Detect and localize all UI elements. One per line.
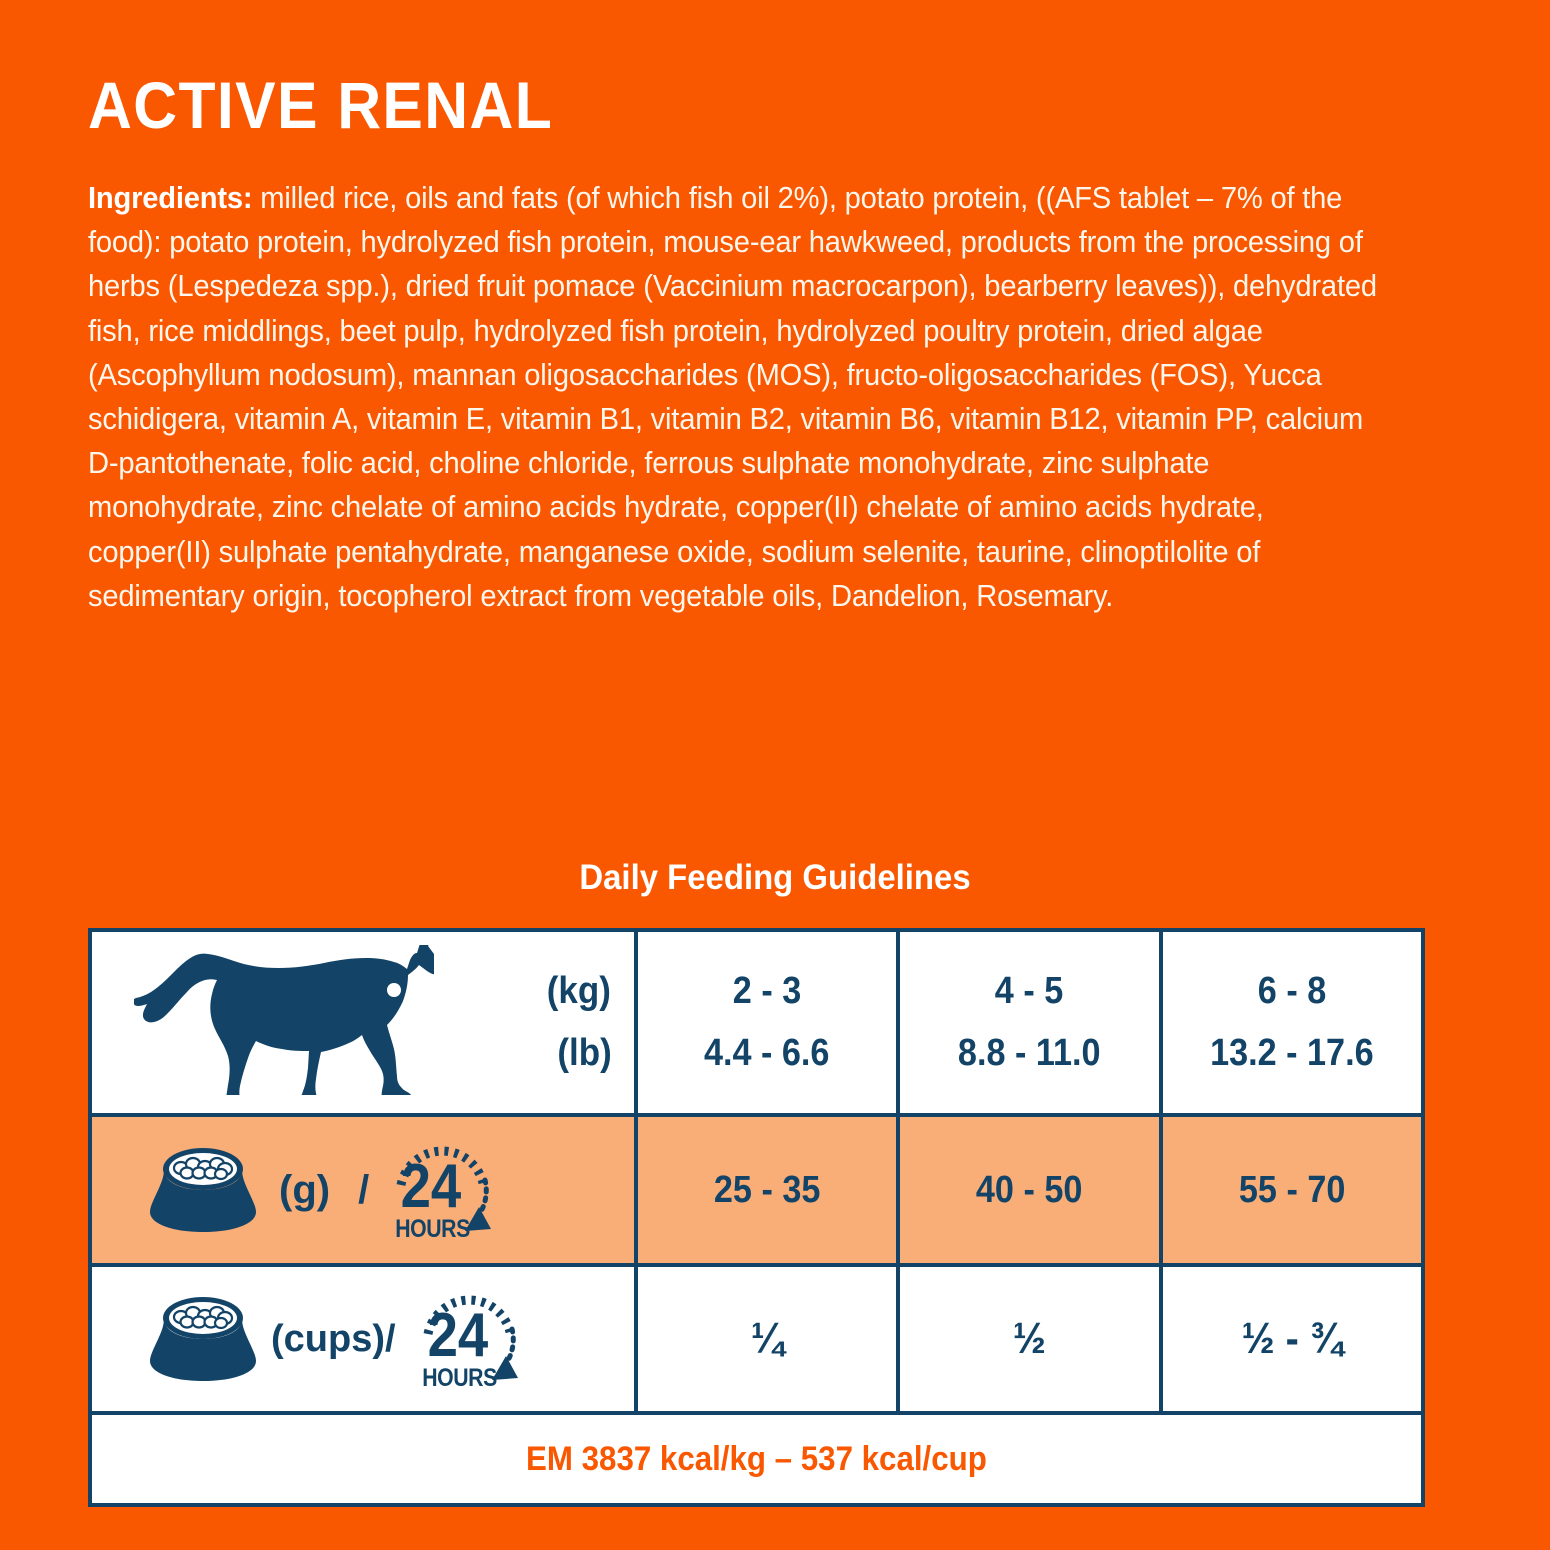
pet-food-label-page: ACTIVE RENAL Ingredients: milled rice, o… [0, 0, 1550, 1550]
cups-col-2: ½ [900, 1267, 1162, 1411]
weight-lb-3: 13.2 - 17.6 [1210, 1023, 1374, 1085]
table-row-cups: (cups)/ 24 HOURS ¼ ½ [92, 1267, 1421, 1415]
unit-grams: (g) [279, 1168, 330, 1213]
feeding-guidelines-table: (kg) (lb) 2 - 3 4.4 - 6.6 4 - 5 8.8 - 11… [88, 928, 1425, 1507]
cups-value-2: ½ [1013, 1314, 1046, 1364]
grams-col-3: 55 - 70 [1163, 1117, 1421, 1263]
svg-text:HOURS: HOURS [395, 1214, 470, 1242]
cups-col-3: ½ - ¾ [1163, 1267, 1421, 1411]
cups-value-3: ½ - ¾ [1241, 1314, 1342, 1364]
svg-text:HOURS: HOURS [422, 1363, 497, 1391]
grams-row-label-cell: (g) / 24 HOURS [92, 1117, 638, 1263]
svg-text:24: 24 [427, 1300, 488, 1369]
grams-col-1: 25 - 35 [638, 1117, 900, 1263]
food-bowl-icon [147, 1291, 259, 1388]
weight-lb-1: 4.4 - 6.6 [704, 1023, 829, 1085]
table-row-weight: (kg) (lb) 2 - 3 4.4 - 6.6 4 - 5 8.8 - 11… [92, 932, 1421, 1117]
cat-icon [134, 945, 434, 1100]
food-bowl-icon [147, 1142, 259, 1239]
cups-row-label-cell: (cups)/ 24 HOURS [92, 1267, 638, 1411]
weight-col-3: 6 - 8 13.2 - 17.6 [1163, 932, 1421, 1113]
24-hours-icon: 24 HOURS [379, 1125, 497, 1256]
svg-text:24: 24 [401, 1151, 462, 1220]
grams-value-2: 40 - 50 [976, 1169, 1082, 1212]
unit-kg: (kg) [547, 961, 611, 1023]
ingredients-label: Ingredients: [88, 181, 252, 215]
weight-col-2: 4 - 5 8.8 - 11.0 [900, 932, 1162, 1113]
cups-value-1: ¼ [751, 1314, 784, 1364]
grams-value-3: 55 - 70 [1239, 1169, 1345, 1212]
weight-kg-3: 6 - 8 [1258, 961, 1326, 1023]
ingredients-text: milled rice, oils and fats (of which fis… [88, 181, 1377, 613]
unit-lb: (lb) [557, 1023, 611, 1085]
table-row-energy: EM 3837 kcal/kg – 537 kcal/cup [92, 1415, 1421, 1503]
weight-units-column: (kg) (lb) [434, 932, 634, 1113]
grams-col-2: 40 - 50 [900, 1117, 1162, 1263]
grams-value-1: 25 - 35 [714, 1169, 820, 1212]
feeding-guidelines-heading: Daily Feeding Guidelines [47, 858, 1504, 898]
weight-col-1: 2 - 3 4.4 - 6.6 [638, 932, 900, 1113]
weight-lb-2: 8.8 - 11.0 [958, 1023, 1101, 1085]
energy-content-cell: EM 3837 kcal/kg – 537 kcal/cup [92, 1415, 1421, 1503]
unit-slash: / [358, 1168, 369, 1213]
ingredients-paragraph: Ingredients: milled rice, oils and fats … [88, 176, 1387, 618]
24-hours-icon: 24 HOURS [406, 1274, 524, 1405]
weight-kg-2: 4 - 5 [995, 961, 1063, 1023]
weight-kg-1: 2 - 3 [733, 961, 801, 1023]
page-title: ACTIVE RENAL [88, 72, 553, 138]
weight-row-label-cell: (kg) (lb) [92, 932, 638, 1113]
cups-col-1: ¼ [638, 1267, 900, 1411]
unit-cups: (cups)/ [271, 1318, 396, 1361]
energy-value: EM 3837 kcal/kg – 537 kcal/cup [526, 1440, 987, 1479]
table-row-grams: (g) / 24 HOURS 25 - 35 [92, 1117, 1421, 1267]
